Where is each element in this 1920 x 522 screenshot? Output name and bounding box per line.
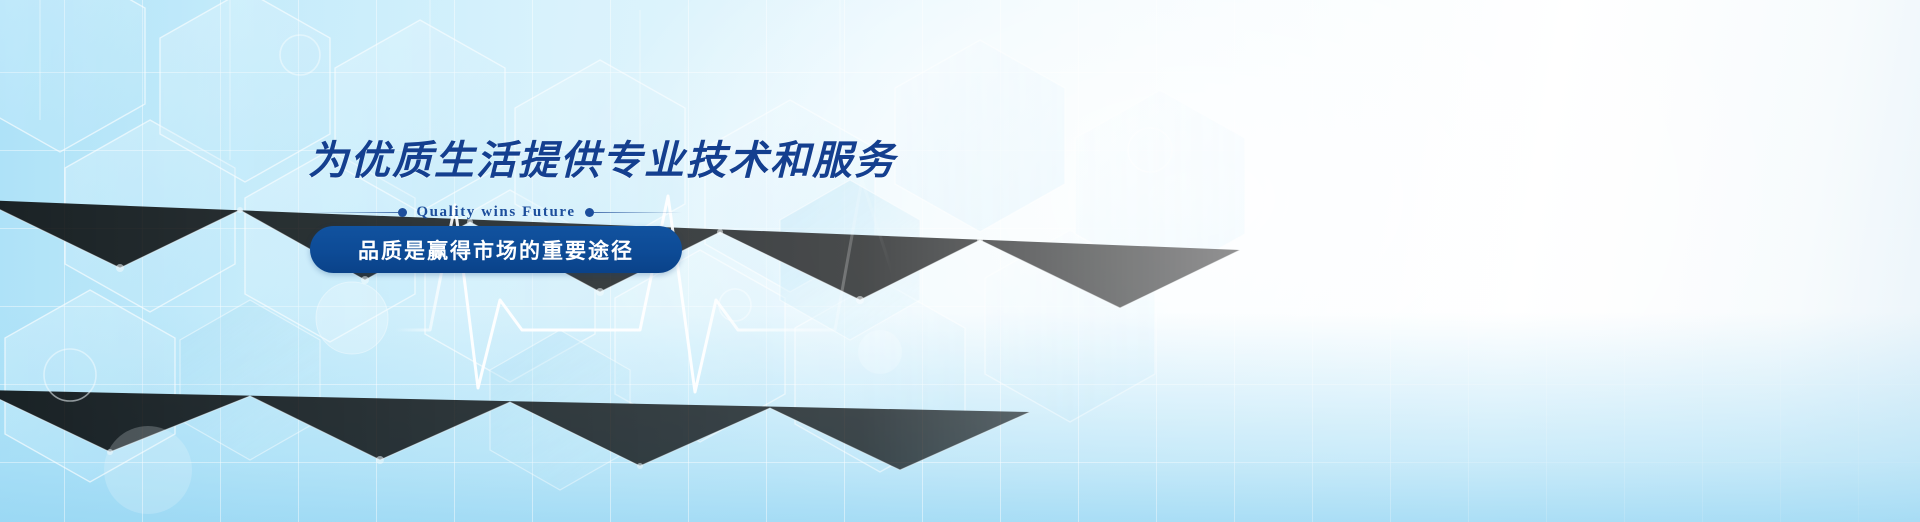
tagline-text: Quality wins Future	[407, 204, 584, 221]
tagline-rule-right	[594, 212, 682, 213]
slogan-pill-button[interactable]: 品质是赢得市场的重要途径	[310, 226, 682, 273]
banner-headline: 为优质生活提供专业技术和服务	[308, 128, 896, 186]
banner-copy: 为优质生活提供专业技术和服务 Quality wins Future 品质是赢得…	[0, 0, 1920, 522]
slogan-pill-label: 品质是赢得市场的重要途径	[358, 235, 634, 265]
tagline-dot-right	[585, 208, 594, 217]
tagline-dot-left	[398, 208, 407, 217]
tagline-rule-left	[310, 212, 398, 213]
medical-hero-banner: 为优质生活提供专业技术和服务 Quality wins Future 品质是赢得…	[0, 0, 1920, 522]
tagline-divider: Quality wins Future	[310, 200, 682, 224]
